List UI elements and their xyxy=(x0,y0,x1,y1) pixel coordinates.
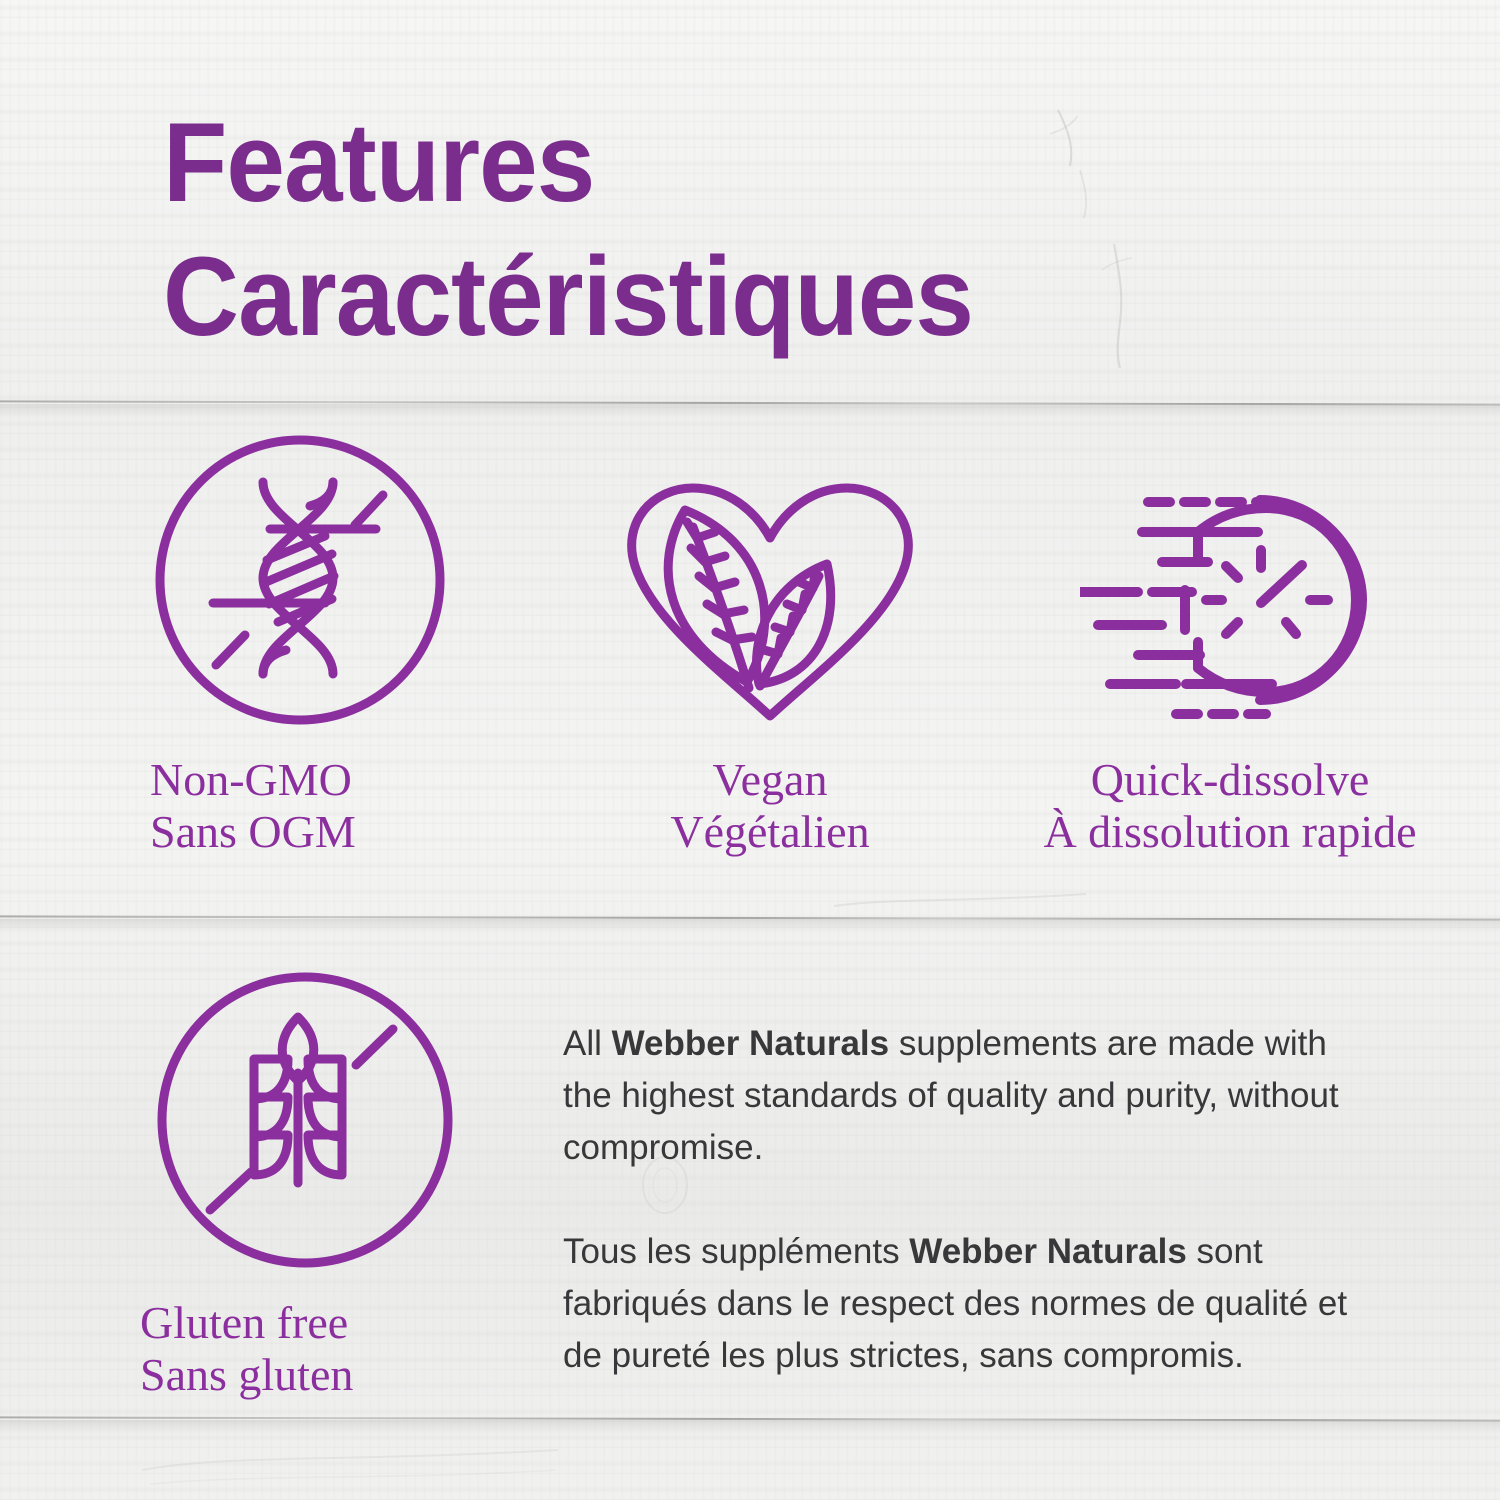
non-gmo-dna-icon xyxy=(150,430,450,730)
body-copy: All Webber Naturals supplements are made… xyxy=(563,1018,1373,1382)
feature-quick-dissolve-label-en: Quick-dissolve xyxy=(1091,754,1370,805)
feature-vegan-icon-wrap xyxy=(560,440,980,730)
body-fr-before: Tous les suppléments xyxy=(563,1232,909,1271)
page-title: Features Caractéristiques xyxy=(163,96,973,364)
wood-grain-mark xyxy=(830,880,1090,920)
wood-grain-mark xyxy=(1080,240,1160,370)
feature-vegan-caption: Vegan Végétalien xyxy=(560,754,980,858)
feature-vegan-label-fr: Végétalien xyxy=(560,806,980,858)
body-en-brand: Webber Naturals xyxy=(612,1024,890,1063)
feature-gluten-free-icon-wrap xyxy=(140,955,470,1275)
body-paragraph-en: All Webber Naturals supplements are made… xyxy=(563,1018,1373,1174)
page-title-fr: Caractéristiques xyxy=(163,230,973,364)
gluten-free-wheat-icon xyxy=(150,965,460,1275)
feature-quick-dissolve-caption: Quick-dissolve À dissolution rapide xyxy=(1000,754,1460,858)
plank-seam-2 xyxy=(0,915,1500,921)
feature-quick-dissolve-label-fr: À dissolution rapide xyxy=(1000,806,1460,858)
wood-grain-mark xyxy=(1040,100,1130,220)
vegan-heart-leaf-icon xyxy=(615,470,925,730)
feature-vegan: Vegan Végétalien xyxy=(560,440,980,858)
feature-vegan-label-en: Vegan xyxy=(713,754,828,805)
feature-gluten-free-caption: Gluten free Sans gluten xyxy=(140,1297,470,1401)
feature-quick-dissolve: Quick-dissolve À dissolution rapide xyxy=(1000,440,1460,858)
features-infographic: Features Caractéristiques xyxy=(0,0,1500,1500)
plank-seam-1 xyxy=(0,400,1500,406)
body-fr-brand: Webber Naturals xyxy=(909,1232,1187,1271)
feature-gluten-free-label-en: Gluten free xyxy=(140,1297,348,1348)
quick-dissolve-clock-icon xyxy=(1080,470,1380,730)
feature-quick-dissolve-icon-wrap xyxy=(1000,440,1460,730)
feature-gluten-free-label-fr: Sans gluten xyxy=(140,1349,470,1401)
feature-non-gmo-icon-wrap xyxy=(150,440,450,730)
plank-seam-3 xyxy=(0,1416,1500,1422)
page-title-en: Features xyxy=(163,100,594,225)
feature-non-gmo-label-fr: Sans OGM xyxy=(150,806,450,858)
feature-non-gmo-label-en: Non-GMO xyxy=(150,754,352,805)
body-paragraph-fr: Tous les suppléments Webber Naturals son… xyxy=(563,1226,1373,1382)
feature-non-gmo-caption: Non-GMO Sans OGM xyxy=(150,754,450,858)
feature-gluten-free: Gluten free Sans gluten xyxy=(140,955,470,1401)
feature-non-gmo: Non-GMO Sans OGM xyxy=(150,440,450,858)
wood-grain-mark xyxy=(140,1440,560,1490)
body-en-before: All xyxy=(563,1024,612,1063)
